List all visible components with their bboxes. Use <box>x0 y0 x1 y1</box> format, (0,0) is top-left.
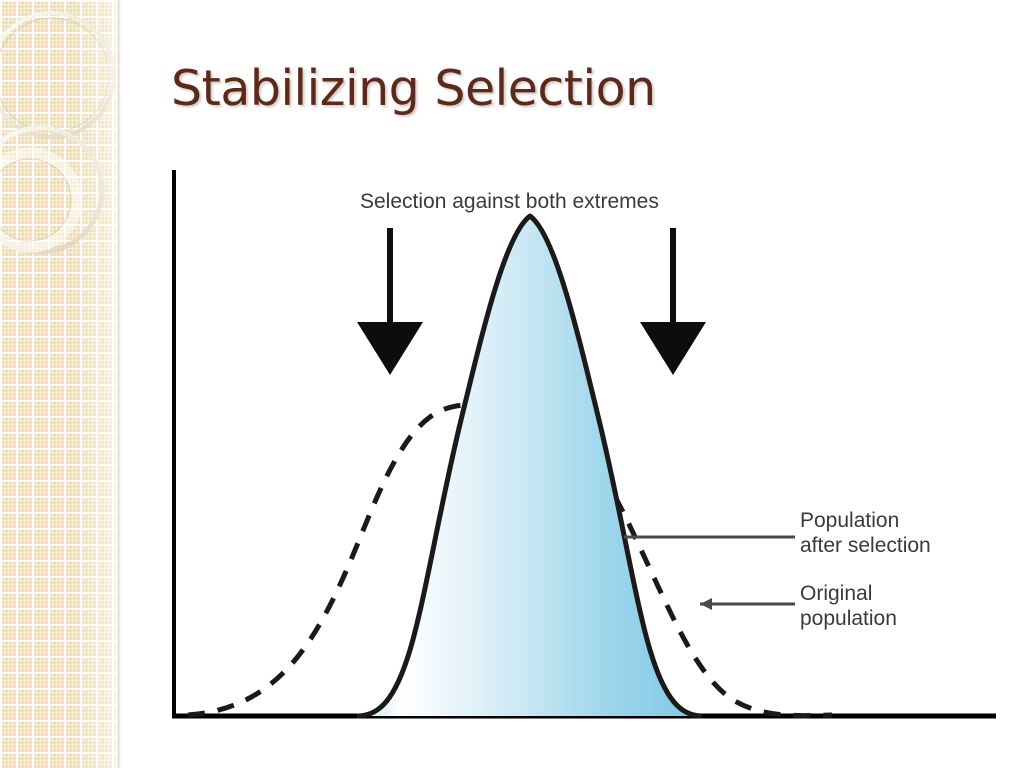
selection-arrow-right-icon <box>640 228 706 375</box>
chart-legend-population-after-selection: Population after selection <box>800 508 931 558</box>
slide: Stabilizing Selection <box>0 0 1024 768</box>
stabilizing-selection-chart <box>0 0 1024 768</box>
population-after-selection-fill <box>357 216 702 716</box>
chart-legend-original-population: Original population <box>800 581 897 631</box>
selection-arrow-left-icon <box>357 228 423 375</box>
leader-line-original-population <box>700 598 795 610</box>
chart-annotation-selection-against-both-extremes: Selection against both extremes <box>360 190 659 214</box>
